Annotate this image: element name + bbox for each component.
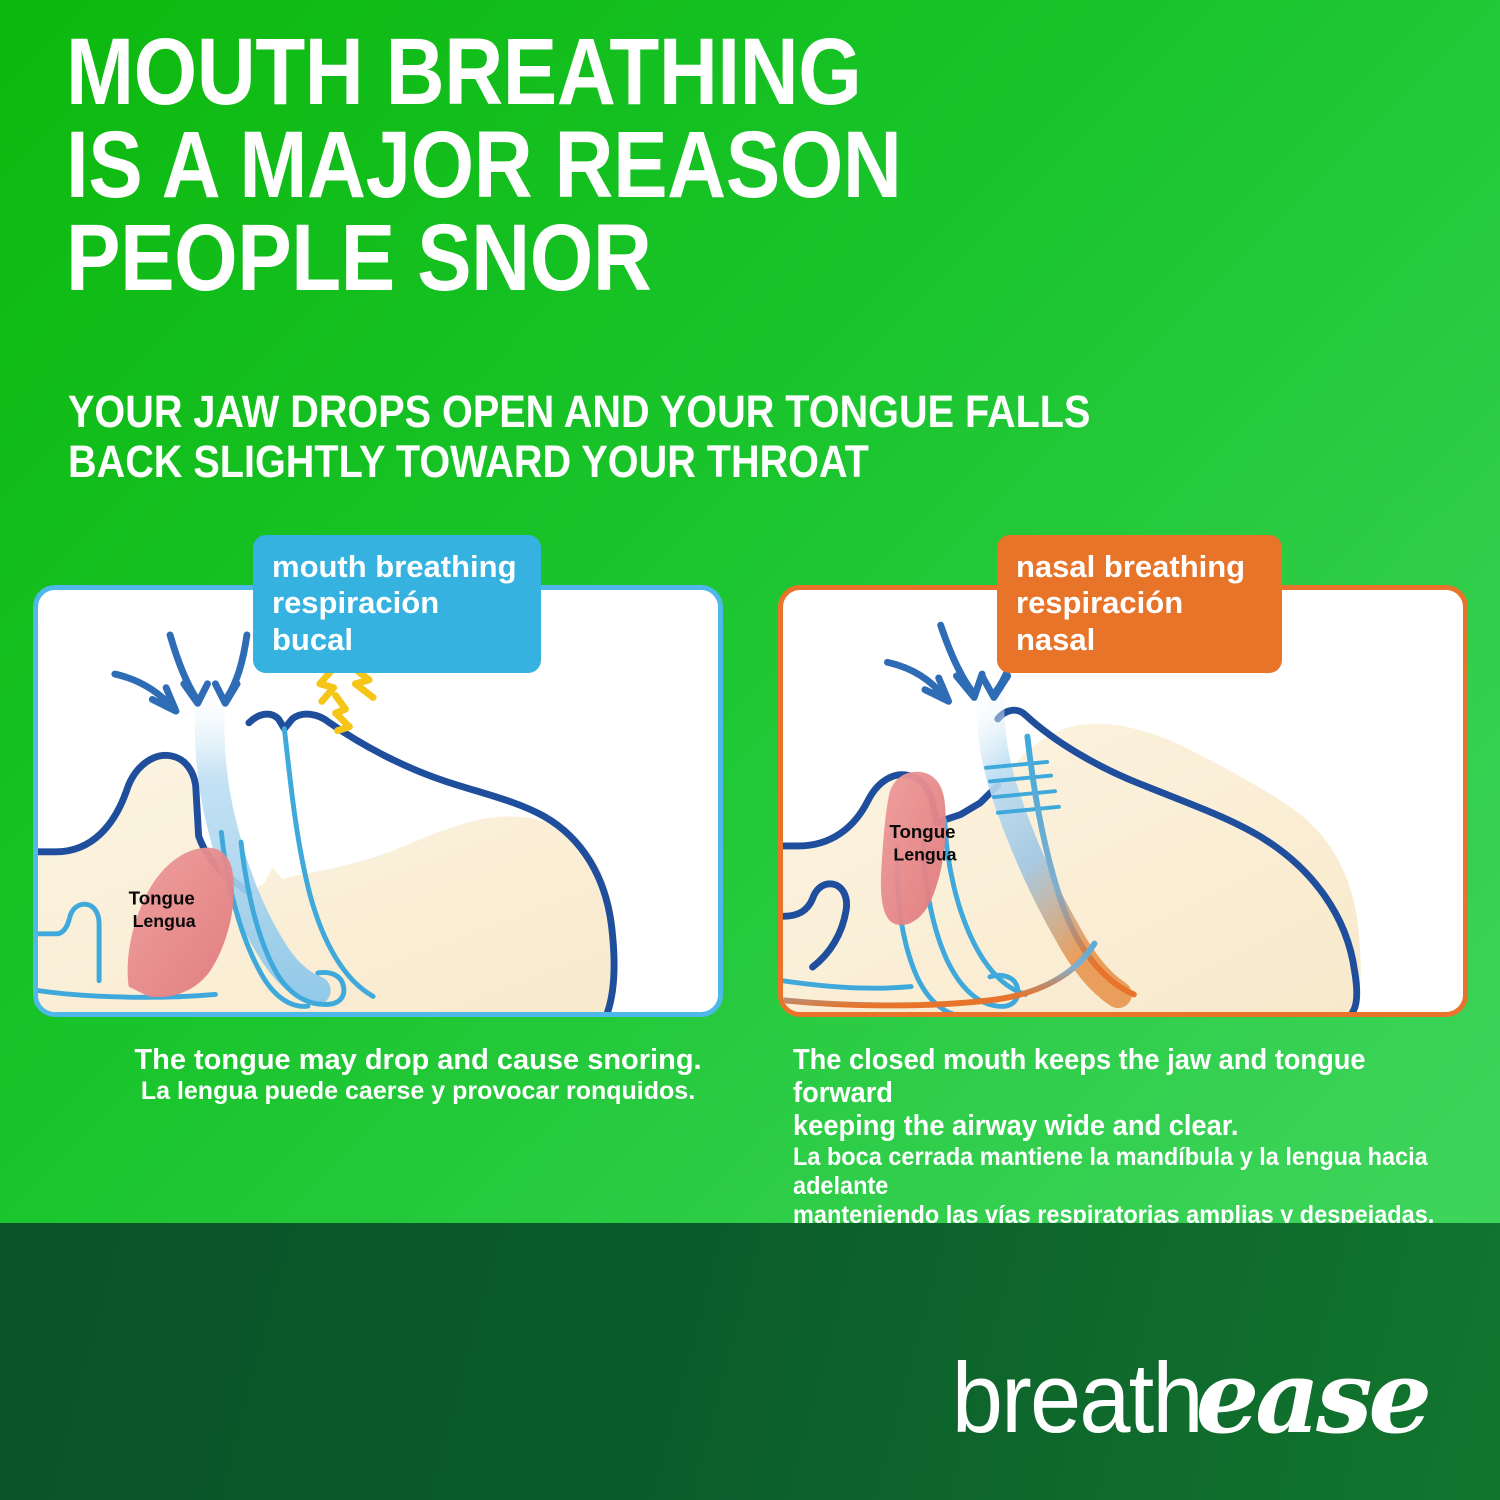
badge-mouth-breathing: mouth breathing respiración bucal [253,535,541,673]
caption-en: The closed mouth keeps the jaw and tongu… [793,1044,1451,1143]
infographic-poster: MOUTH BREATHING IS A MAJOR REASON PEOPLE… [0,0,1500,1500]
tongue-label-es: Lengua [133,911,196,931]
logo-text-ease: ease [1196,1338,1428,1456]
caption-es: La lengua puede caerse y provocar ronqui… [118,1077,718,1106]
tongue-label-es: Lengua [893,845,956,865]
caption-nasal-breathing: The closed mouth keeps the jaw and tongu… [793,1044,1493,1230]
page-title: MOUTH BREATHING IS A MAJOR REASON PEOPLE… [66,26,1218,305]
caption-en: The tongue may drop and cause snoring. [118,1044,718,1077]
air-arrows [115,635,247,711]
brand-logo: breathease [933,1338,1428,1456]
logo-text-breath: breath [952,1341,1202,1455]
tongue-label-en: Tongue [129,888,195,909]
tongue-label-en: Tongue [889,821,955,842]
caption-mouth-breathing: The tongue may drop and cause snoring. L… [118,1044,718,1106]
page-subtitle: YOUR JAW DROPS OPEN AND YOUR TONGUE FALL… [68,387,1282,488]
footer-bar: breathease [0,1223,1500,1500]
badge-nasal-breathing: nasal breathing respiración nasal [997,535,1282,673]
caption-es: La boca cerrada mantiene la mandíbula y … [793,1143,1451,1230]
